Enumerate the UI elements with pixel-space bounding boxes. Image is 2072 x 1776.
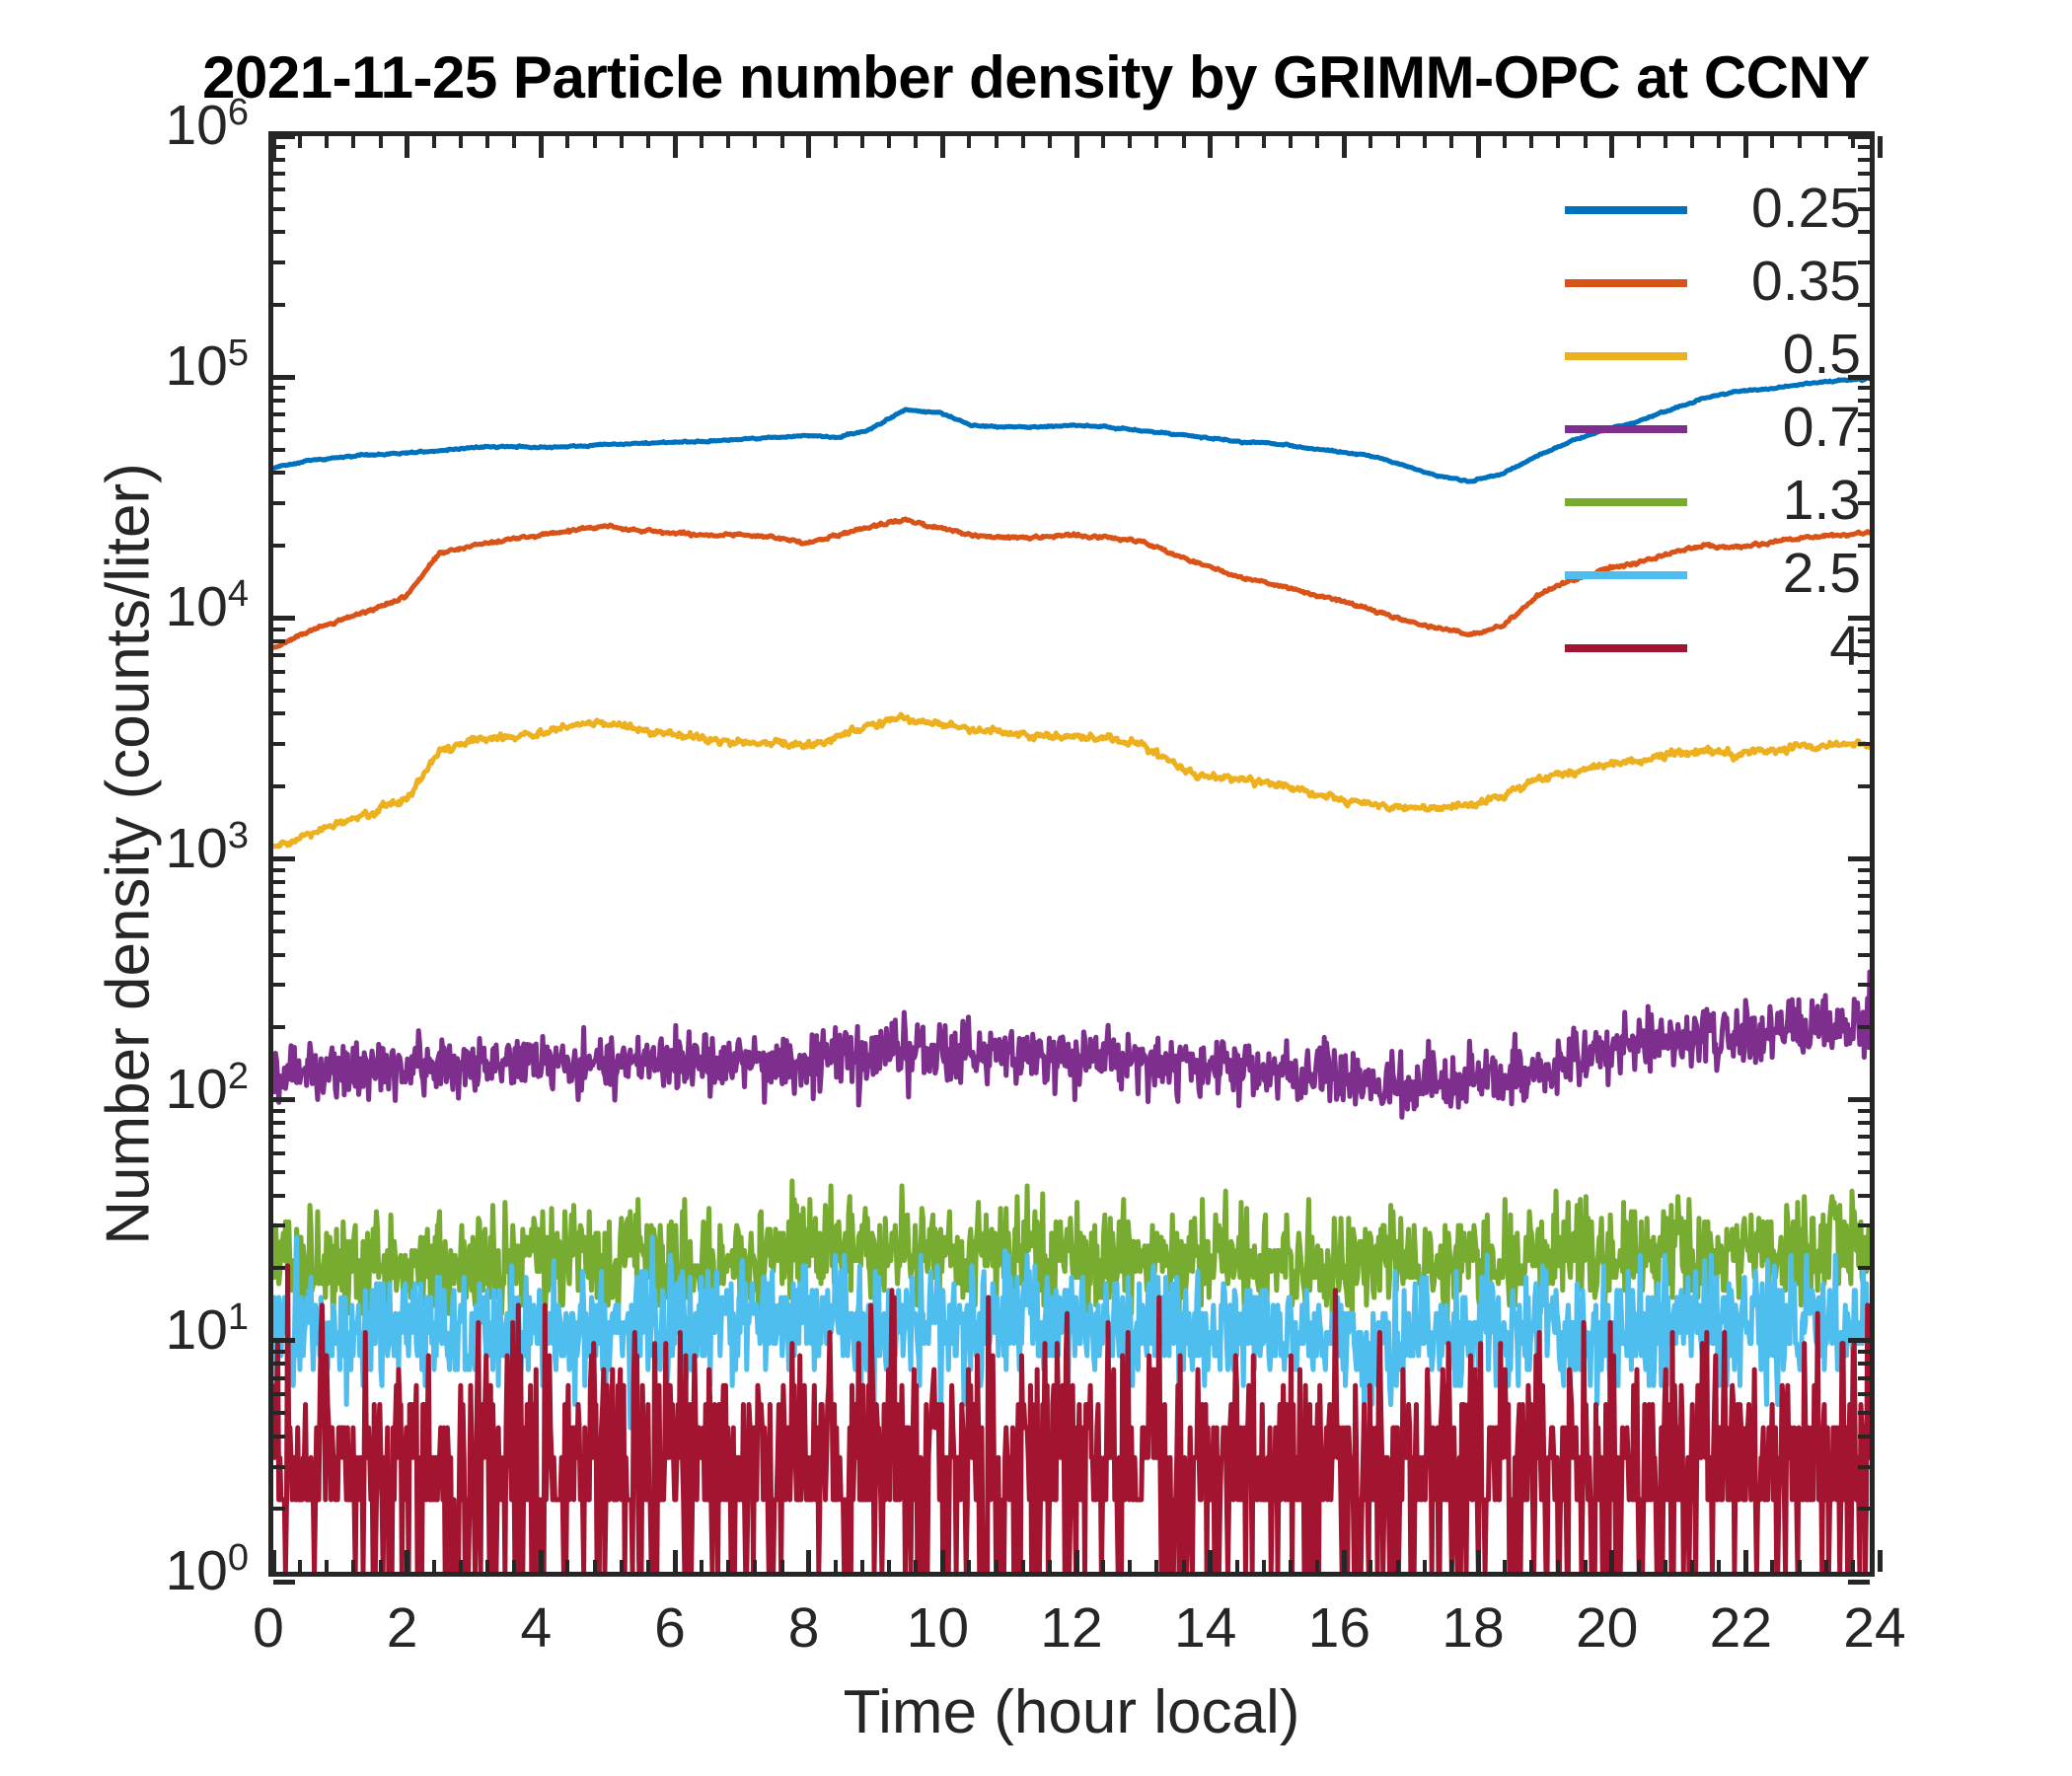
legend-swatch-icon [1565,206,1687,214]
x-axis-minor-tick [914,136,918,148]
x-axis-minor-tick [1449,136,1453,148]
y-axis-minor-tick [1858,1151,1870,1155]
y-axis-minor-tick [273,711,285,715]
y-axis-minor-tick [273,448,285,452]
x-axis-minor-tick [1690,1560,1694,1572]
x-axis-minor-tick [726,136,730,148]
x-axis-minor-tick [1824,1560,1828,1572]
y-axis-minor-tick [273,880,285,884]
x-axis-major-tick [405,1550,409,1572]
y-axis-minor-tick [273,386,285,390]
x-axis-major-tick [539,1550,544,1572]
x-axis-minor-tick [1396,1560,1400,1572]
x-axis-minor-tick [967,136,971,148]
x-axis-minor-tick [351,1560,355,1572]
x-axis-minor-tick [1315,1560,1319,1572]
y-axis-minor-tick [273,1507,285,1511]
y-axis-minor-tick [273,784,285,788]
x-axis-minor-tick [1798,1560,1802,1572]
x-axis-minor-tick [325,136,329,148]
y-axis-minor-tick [273,501,285,505]
x-axis-minor-tick [432,1560,436,1572]
x-axis-minor-tick [1048,1560,1052,1572]
x-axis-minor-tick [1262,1560,1266,1572]
x-tick-label: 10 [868,1600,1006,1657]
y-axis-minor-tick [273,653,285,657]
x-axis-minor-tick [298,136,302,148]
x-axis-major-tick [1208,1550,1213,1572]
x-axis-minor-tick [995,136,999,148]
x-axis-minor-tick [1851,1560,1855,1572]
y-axis-minor-tick [273,1121,285,1125]
x-axis-minor-tick [753,1560,757,1572]
x-tick-label: 8 [735,1600,873,1657]
x-axis-minor-tick [1503,1560,1507,1572]
x-axis-minor-tick [887,1560,891,1572]
y-axis-minor-tick [1858,880,1870,884]
y-axis-minor-tick [273,1170,285,1174]
x-axis-minor-tick [1637,1560,1641,1572]
x-axis-minor-tick [379,136,383,148]
x-axis-minor-tick [485,1560,489,1572]
x-axis-minor-tick [646,136,650,148]
y-axis-minor-tick [273,544,285,548]
y-axis-major-tick [273,856,295,861]
y-axis-minor-tick [1858,1135,1870,1139]
y-axis-minor-tick [273,983,285,987]
x-axis-minor-tick [512,136,516,148]
x-axis-minor-tick [1154,1560,1158,1572]
legend-label: 0.7 [1703,393,1861,462]
x-axis-minor-tick [1289,136,1293,148]
x-tick-label: 6 [601,1600,739,1657]
legend-label: 2.5 [1703,539,1861,608]
y-axis-minor-tick [273,412,285,416]
y-tick-label: 106 [22,98,249,154]
legend-item-4[interactable]: 4 [1565,612,1861,685]
x-axis-minor-tick [1128,136,1132,148]
legend-item-0.5[interactable]: 0.5 [1565,320,1861,393]
x-tick-label: 4 [467,1600,605,1657]
x-axis-minor-tick [432,136,436,148]
x-axis-minor-tick [298,1560,302,1572]
y-axis-minor-tick [1858,742,1870,746]
y-axis-minor-tick [1858,868,1870,872]
x-axis-major-tick [1743,1550,1748,1572]
y-axis-minor-tick [1858,953,1870,957]
y-axis-minor-tick [273,1266,285,1270]
y-axis-minor-tick [273,1135,285,1139]
y-axis-major-tick [273,616,295,621]
y-axis-minor-tick [273,428,285,432]
x-axis-minor-tick [1235,1560,1239,1572]
y-axis-minor-tick [1858,1435,1870,1439]
x-axis-major-tick [1476,1550,1481,1572]
x-axis-minor-tick [593,1560,597,1572]
x-axis-title: Time (hour local) [268,1677,1875,1747]
y-axis-major-tick [273,134,295,139]
x-axis-minor-tick [620,1560,624,1572]
y-axis-major-tick [1848,1338,1870,1343]
y-axis-minor-tick [1858,1170,1870,1174]
y-axis-minor-tick [273,911,285,915]
x-axis-minor-tick [887,136,891,148]
x-axis-minor-tick [1556,136,1560,148]
x-axis-minor-tick [1101,1560,1105,1572]
y-axis-minor-tick [273,399,285,403]
x-tick-label: 16 [1270,1600,1408,1657]
y-axis-minor-tick [273,670,285,674]
y-axis-minor-tick [1858,929,1870,933]
x-axis-major-tick [1743,136,1748,158]
x-axis-minor-tick [459,136,463,148]
x-tick-label: 18 [1404,1600,1542,1657]
x-axis-minor-tick [1369,1560,1372,1572]
y-axis-minor-tick [1858,1025,1870,1029]
y-axis-minor-tick [273,1194,285,1198]
x-axis-minor-tick [593,136,597,148]
series-line-0.7 [273,972,1870,1117]
x-tick-label: 2 [333,1600,472,1657]
legend-label: 0.5 [1703,320,1861,389]
legend-swatch-icon [1565,352,1687,360]
x-axis-major-tick [1609,136,1614,158]
x-axis-minor-tick [1717,136,1721,148]
y-axis-minor-tick [273,1109,285,1113]
x-axis-major-tick [1609,1550,1614,1572]
x-axis-minor-tick [1048,136,1052,148]
x-axis-minor-tick [700,1560,703,1572]
y-axis-minor-tick [1858,1350,1870,1354]
y-axis-minor-tick [1858,711,1870,715]
y-axis-minor-tick [1858,158,1870,162]
x-axis-minor-tick [780,1560,784,1572]
y-axis-minor-tick [273,172,285,176]
y-axis-major-tick [1848,1097,1870,1102]
y-axis-minor-tick [1858,1223,1870,1227]
y-axis-minor-tick [273,953,285,957]
y-axis-minor-tick [273,230,285,234]
y-axis-minor-tick [1858,1109,1870,1113]
y-axis-minor-tick [273,894,285,898]
x-tick-label: 20 [1538,1600,1676,1657]
y-axis-minor-tick [273,158,285,162]
x-axis-major-tick [405,136,409,158]
x-axis-major-tick [1476,136,1481,158]
x-axis-minor-tick [1396,136,1400,148]
legend-label: 0.35 [1703,247,1861,316]
y-axis-minor-tick [1858,1392,1870,1396]
x-axis-minor-tick [1182,1560,1186,1572]
x-axis-minor-tick [1637,136,1641,148]
y-axis-minor-tick [273,187,285,191]
x-axis-minor-tick [1262,136,1266,148]
x-axis-minor-tick [995,1560,999,1572]
y-axis-major-tick [1848,1580,1870,1585]
page-title: 2021-11-25 Particle number density by GR… [0,43,2072,111]
x-axis-major-tick [1878,136,1883,158]
x-axis-minor-tick [1664,136,1667,148]
x-axis-major-tick [271,1550,276,1572]
y-axis-minor-tick [1858,1362,1870,1366]
x-tick-label: 0 [199,1600,337,1657]
y-axis-minor-tick [273,303,285,307]
series-line-0.5 [273,714,1870,847]
y-axis-minor-tick [1858,689,1870,693]
legend-item-0.7[interactable]: 0.7 [1565,393,1861,466]
y-axis-minor-tick [273,1465,285,1469]
x-axis-minor-tick [379,1560,383,1572]
y-axis-major-tick [273,1338,295,1343]
x-axis-minor-tick [1664,1560,1667,1572]
x-axis-major-tick [673,136,678,158]
x-axis-minor-tick [1851,136,1855,148]
y-axis-minor-tick [1858,1411,1870,1415]
y-axis-minor-tick [273,742,285,746]
x-axis-minor-tick [325,1560,329,1572]
y-axis-major-tick [1848,856,1870,861]
x-axis-minor-tick [1021,136,1025,148]
x-axis-minor-tick [1369,136,1372,148]
x-axis-minor-tick [351,136,355,148]
y-axis-minor-tick [273,1350,285,1354]
legend-item-0.25[interactable]: 0.25 [1565,174,1861,247]
x-axis-minor-tick [1556,1560,1560,1572]
x-axis-minor-tick [1584,136,1588,148]
x-axis-minor-tick [1235,136,1239,148]
x-axis-minor-tick [834,136,838,148]
x-axis-major-tick [539,136,544,158]
legend: 0.250.350.50.71.32.54 [1565,174,1861,685]
y-tick-label: 100 [22,1543,249,1599]
x-axis-minor-tick [860,136,864,148]
y-axis-title: Number density (counts/liter) [94,312,164,1397]
y-axis-minor-tick [273,1362,285,1366]
x-axis-minor-tick [1182,136,1186,148]
x-axis-major-tick [1342,1550,1347,1572]
x-axis-minor-tick [1584,1560,1588,1572]
legend-label: 4 [1703,612,1861,681]
x-axis-minor-tick [700,136,703,148]
x-axis-major-tick [271,136,276,158]
y-axis-minor-tick [1858,1121,1870,1125]
y-axis-minor-tick [1858,784,1870,788]
y-axis-minor-tick [273,1025,285,1029]
chart-figure: 2021-11-25 Particle number density by GR… [0,0,2072,1776]
x-axis-minor-tick [860,1560,864,1572]
x-axis-minor-tick [1798,136,1802,148]
x-axis-major-tick [1342,136,1347,158]
x-axis-minor-tick [620,136,624,148]
y-axis-minor-tick [273,207,285,211]
y-axis-major-tick [273,375,295,380]
y-axis-minor-tick [273,1411,285,1415]
legend-swatch-icon [1565,425,1687,433]
x-axis-minor-tick [834,1560,838,1572]
x-axis-minor-tick [1770,136,1774,148]
x-axis-major-tick [1878,1550,1883,1572]
legend-item-0.35[interactable]: 0.35 [1565,247,1861,320]
y-axis-minor-tick [273,868,285,872]
y-axis-minor-tick [1858,983,1870,987]
y-axis-major-tick [273,1580,295,1585]
x-axis-minor-tick [646,1560,650,1572]
x-tick-label: 12 [1002,1600,1141,1657]
legend-swatch-icon [1565,498,1687,506]
y-axis-minor-tick [1858,1376,1870,1380]
x-axis-major-tick [673,1550,678,1572]
x-axis-major-tick [806,1550,811,1572]
x-tick-label: 22 [1671,1600,1810,1657]
x-axis-minor-tick [1449,1560,1453,1572]
x-axis-minor-tick [1529,136,1533,148]
legend-label: 1.3 [1703,466,1861,535]
x-axis-minor-tick [1154,136,1158,148]
y-axis-minor-tick [1858,911,1870,915]
x-axis-minor-tick [967,1560,971,1572]
x-tick-label: 14 [1137,1600,1275,1657]
y-axis-minor-tick [273,1435,285,1439]
y-axis-minor-tick [1858,1266,1870,1270]
x-axis-minor-tick [1770,1560,1774,1572]
x-axis-minor-tick [565,136,569,148]
x-axis-minor-tick [485,136,489,148]
y-axis-minor-tick [273,628,285,631]
y-axis-minor-tick [273,1223,285,1227]
y-axis-major-tick [273,1097,295,1102]
x-axis-minor-tick [780,136,784,148]
x-axis-minor-tick [1315,136,1319,148]
x-axis-minor-tick [1503,136,1507,148]
x-axis-major-tick [1208,136,1213,158]
x-axis-minor-tick [1529,1560,1533,1572]
x-axis-major-tick [1074,136,1079,158]
y-axis-minor-tick [273,639,285,643]
x-axis-minor-tick [753,136,757,148]
x-axis-minor-tick [1824,136,1828,148]
y-axis-minor-tick [1858,145,1870,149]
y-axis-minor-tick [273,1376,285,1380]
x-axis-major-tick [1074,1550,1079,1572]
x-axis-minor-tick [1423,1560,1427,1572]
legend-item-1.3[interactable]: 1.3 [1565,466,1861,539]
y-axis-minor-tick [1858,894,1870,898]
x-axis-minor-tick [726,1560,730,1572]
x-axis-minor-tick [1101,136,1105,148]
y-axis-minor-tick [1858,1507,1870,1511]
legend-item-2.5[interactable]: 2.5 [1565,539,1861,612]
legend-label: 0.25 [1703,174,1861,243]
y-axis-minor-tick [273,471,285,475]
legend-swatch-icon [1565,279,1687,287]
y-axis-minor-tick [1858,1194,1870,1198]
x-axis-minor-tick [914,1560,918,1572]
x-axis-minor-tick [565,1560,569,1572]
x-axis-major-tick [940,1550,945,1572]
x-tick-label: 24 [1806,1600,1944,1657]
x-axis-major-tick [940,136,945,158]
x-axis-minor-tick [1690,136,1694,148]
x-axis-minor-tick [1128,1560,1132,1572]
x-axis-major-tick [806,136,811,158]
y-axis-minor-tick [1858,1465,1870,1469]
y-axis-minor-tick [273,1151,285,1155]
y-axis-minor-tick [273,929,285,933]
legend-swatch-icon [1565,571,1687,579]
x-axis-minor-tick [459,1560,463,1572]
x-axis-minor-tick [512,1560,516,1572]
x-axis-minor-tick [1289,1560,1293,1572]
y-axis-minor-tick [273,260,285,264]
x-axis-minor-tick [1423,136,1427,148]
x-axis-minor-tick [1717,1560,1721,1572]
legend-swatch-icon [1565,644,1687,652]
x-axis-minor-tick [1021,1560,1025,1572]
y-axis-minor-tick [273,1392,285,1396]
y-axis-minor-tick [273,689,285,693]
